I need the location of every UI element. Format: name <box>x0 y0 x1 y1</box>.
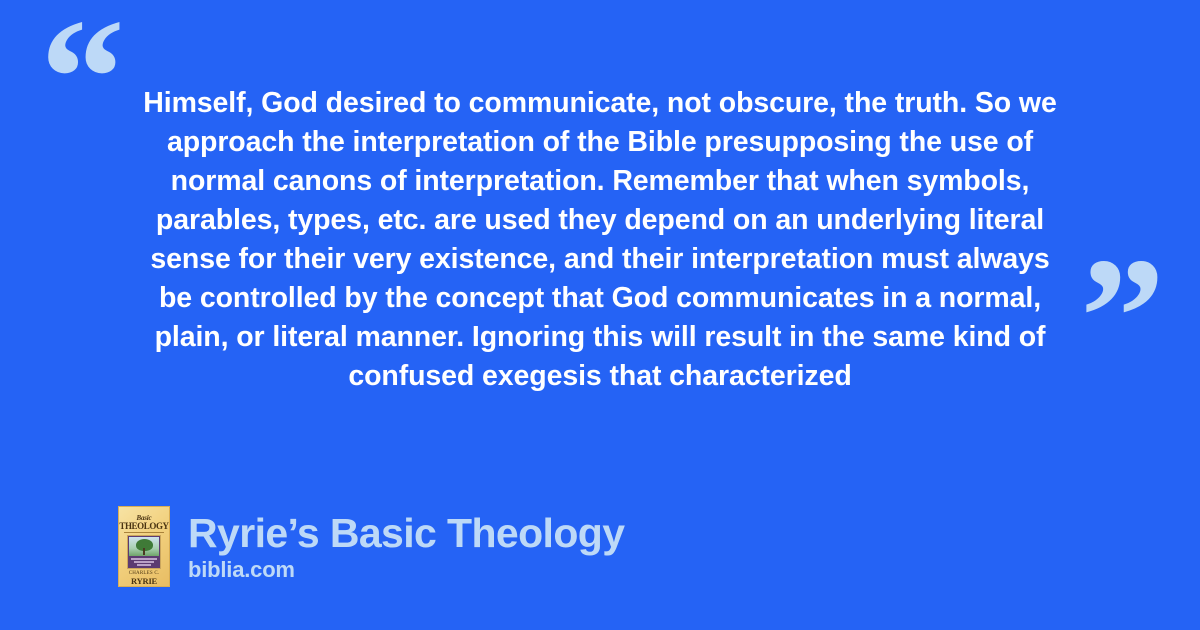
closing-quote-icon: ” <box>1080 232 1165 402</box>
quote-card: “ Himself, God desired to communicate, n… <box>0 0 1200 630</box>
book-cover-rule <box>124 532 164 533</box>
book-cover-tree-illustration <box>127 535 161 569</box>
quote-block: Himself, God desired to communicate, not… <box>112 84 1088 396</box>
book-cover-subtitle-line <box>134 561 154 563</box>
book-cover-thumbnail: Basic THEOLOGY CHARLES C. RYRIE <box>118 506 170 587</box>
book-cover-author-line-2: RYRIE <box>119 577 169 586</box>
site-name-link[interactable]: biblia.com <box>188 557 624 583</box>
work-title: Ryrie’s Basic Theology <box>188 511 624 555</box>
quote-text: Himself, God desired to communicate, not… <box>112 84 1088 396</box>
book-cover-subtitle-line <box>137 564 151 566</box>
attribution-text: Ryrie’s Basic Theology biblia.com <box>188 511 624 583</box>
book-cover-title-line-2: THEOLOGY <box>119 522 169 531</box>
attribution[interactable]: Basic THEOLOGY CHARLES C. RYRIE Ryrie’s … <box>118 506 624 587</box>
tree-trunk-icon <box>143 548 145 555</box>
book-cover-subtitle-line <box>131 558 157 560</box>
